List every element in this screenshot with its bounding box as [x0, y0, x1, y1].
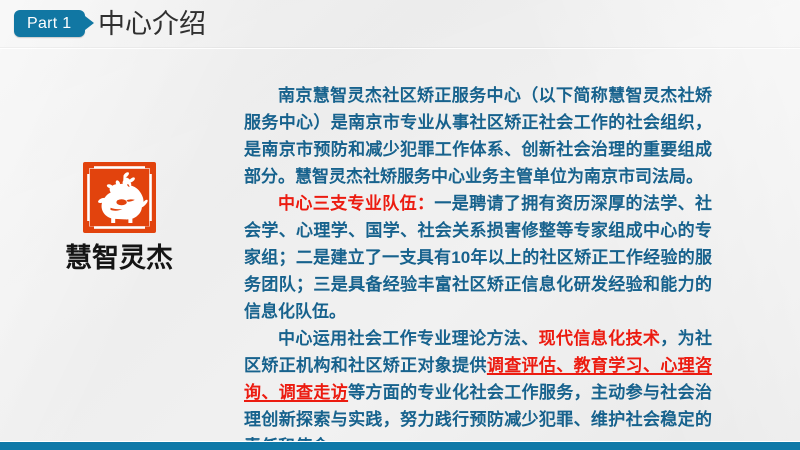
logo-wordmark: 慧智灵杰 [60, 243, 178, 273]
paragraph-1: 南京慧智灵杰社区矫正服务中心（以下简称慧智灵杰社矫服务中心）是南京市专业从事社区… [244, 82, 712, 190]
paragraph-2: 中心三支专业队伍：一是聘请了拥有资历深厚的法学、社会学、心理学、国学、社会关系损… [244, 190, 712, 325]
text-run-highlight: 现代信息化技术 [539, 329, 661, 348]
page-title: 中心介绍 [98, 7, 206, 41]
slide-canvas: Part 1 中心介绍 [0, 0, 800, 450]
part-badge-label: Part 1 [27, 16, 72, 32]
body-copy: 南京慧智灵杰社区矫正服务中心（以下简称慧智灵杰社矫服务中心）是南京市专业从事社区… [244, 82, 712, 450]
xiezhi-beast-mark-icon [83, 162, 156, 233]
text-run-highlight: 中心三支专业队伍： [278, 194, 434, 213]
organization-logo: 慧智灵杰 [60, 162, 178, 273]
paragraph-3: 中心运用社会工作专业理论方法、现代信息化技术，为社区矫正机构和社区矫正对象提供调… [244, 325, 712, 450]
badge-arrow-icon [85, 16, 94, 30]
header-divider [0, 48, 800, 49]
slide-header: Part 1 中心介绍 [0, 0, 800, 49]
part-badge: Part 1 [14, 10, 85, 37]
text-run: 南京慧智灵杰社区矫正服务中心（以下简称慧智灵杰社矫服务中心）是南京市专业从事社区… [244, 86, 712, 186]
text-run: 中心运用社会工作专业理论方法、 [278, 329, 539, 348]
footer-bar [0, 442, 800, 450]
text-run: 一是聘请了拥有资历深厚的法学、社会学、心理学、国学、社会关系损害修整等专家组成中… [244, 194, 712, 321]
